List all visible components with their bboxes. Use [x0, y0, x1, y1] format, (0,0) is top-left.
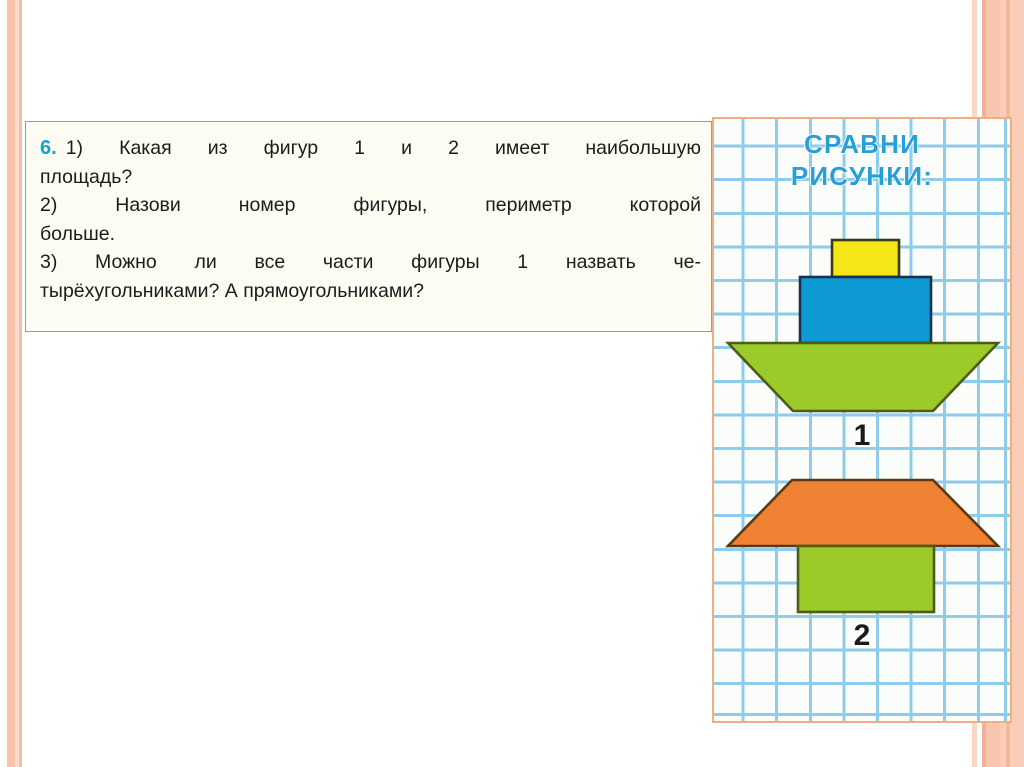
- green-rectangle: [798, 546, 934, 612]
- left-decorative-stripe-1: [7, 0, 15, 767]
- task-line-1: 1) Какая из фигур 1 и 2 имеет наибольшую: [40, 134, 701, 163]
- task-line-6: тырёхугольниками? А прямоугольниками?: [40, 277, 701, 306]
- grid-paper-panel: СРАВНИ РИСУНКИ: 1 2: [712, 117, 1012, 723]
- task-text-box: 6. 1) Какая из фигур 1 и 2 имеет наиболь…: [25, 121, 712, 332]
- task-text-inner: 6. 1) Какая из фигур 1 и 2 имеет наиболь…: [40, 134, 701, 305]
- task-line-3: 2) Назови номер фигуры, периметр которой: [40, 191, 701, 220]
- task-line-5: 3) Можно ли все части фигуры 1 назвать ч…: [40, 248, 701, 277]
- task-number: 6.: [40, 134, 57, 162]
- yellow-rectangle: [832, 240, 899, 277]
- orange-trapezoid-up: [728, 480, 998, 546]
- figure-1-group: [728, 240, 998, 411]
- figure-label-1: 1: [714, 419, 1010, 453]
- task-text-lines: 1) Какая из фигур 1 и 2 имеет наибольшую…: [40, 134, 701, 305]
- blue-rectangle: [800, 277, 931, 343]
- left-decorative-stripe-3: [19, 0, 22, 767]
- figure-2-group: [728, 480, 998, 612]
- green-trapezoid-down: [728, 343, 998, 411]
- task-line-4: больше.: [40, 220, 701, 249]
- task-line-2: площадь?: [40, 163, 701, 192]
- figure-label-2: 2: [714, 619, 1010, 653]
- slide-canvas: 6. 1) Какая из фигур 1 и 2 имеет наиболь…: [0, 0, 1024, 767]
